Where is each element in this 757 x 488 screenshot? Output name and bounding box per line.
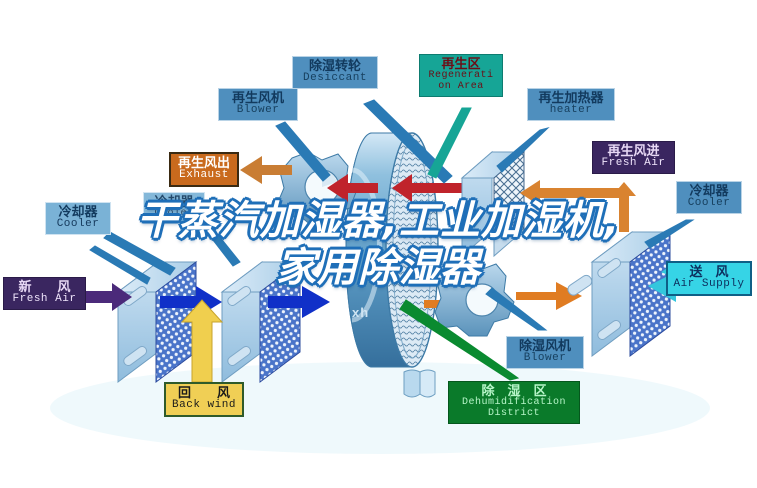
label-dehumidification-blower[interactable]: 除湿风机 Blower — [506, 336, 584, 369]
label-back-wind-en: Back wind — [170, 400, 238, 412]
label-fresh-air-inlet-en: Fresh Air — [8, 294, 81, 306]
regeneration-heater-unit — [462, 152, 524, 256]
label-regeneration-blower[interactable]: 再生风机 Blower — [218, 88, 298, 121]
supply-cooler-unit — [592, 232, 670, 356]
label-dehumidification-blower-cn: 除湿风机 — [511, 339, 579, 353]
label-regeneration-area-cn: 再生区 — [424, 57, 498, 71]
label-fresh-air-inlet[interactable]: 新 风 Fresh Air — [3, 277, 86, 310]
label-regeneration-heater[interactable]: 再生加热器 heater — [527, 88, 615, 121]
label-regeneration-exhaust[interactable]: 再生风出 Exhaust — [169, 152, 239, 187]
label-regeneration-area-en-line2: on Area — [424, 82, 498, 93]
label-fresh-air-inlet-cn: 新 风 — [8, 280, 81, 294]
label-dehumidification-blower-en: Blower — [511, 353, 579, 365]
label-regeneration-area[interactable]: 再生区 Regenerati on Area — [419, 54, 503, 97]
label-air-supply-en: Air Supply — [672, 279, 746, 291]
label-back-wind-cn: 回 风 — [170, 386, 238, 400]
label-regeneration-blower-en: Blower — [223, 105, 293, 117]
label-air-supply[interactable]: 送 风 Air Supply — [666, 261, 752, 296]
label-cooler-left-2[interactable]: 冷却器 Cooler — [143, 192, 205, 224]
diagram-graphics — [0, 0, 757, 488]
label-desiccant-wheel-en: Desiccant — [297, 73, 373, 85]
label-cooler-left-1[interactable]: 冷却器 Cooler — [45, 202, 111, 235]
label-cooler-left-2-en: Cooler — [148, 209, 200, 220]
label-regeneration-fresh-air-en: Fresh Air — [597, 158, 670, 170]
label-regeneration-exhaust-cn: 再生风出 — [175, 156, 233, 170]
label-regeneration-fresh-air-cn: 再生风进 — [597, 144, 670, 158]
label-dehumidification-district-en-line2: District — [453, 409, 575, 420]
label-cooler-left-2-cn: 冷却器 — [148, 195, 200, 209]
label-regeneration-heater-cn: 再生加热器 — [532, 91, 610, 105]
label-desiccant-wheel-cn: 除湿转轮 — [297, 59, 373, 73]
wheel-drain-piece — [404, 370, 435, 397]
label-dehumidification-district-cn: 除 湿 区 — [453, 384, 575, 398]
label-desiccant-wheel[interactable]: 除湿转轮 Desiccant — [292, 56, 378, 89]
label-cooler-right-en: Cooler — [681, 198, 737, 210]
label-dehumidification-district[interactable]: 除 湿 区 Dehumidification District — [448, 381, 580, 424]
label-cooler-left-1-en: Cooler — [50, 219, 106, 231]
wheel-watermark-text: xh — [352, 305, 369, 320]
label-regeneration-exhaust-en: Exhaust — [175, 170, 233, 182]
desiccant-rotor-wheel — [346, 133, 438, 367]
label-regeneration-heater-en: heater — [532, 105, 610, 117]
label-back-wind[interactable]: 回 风 Back wind — [164, 382, 244, 417]
label-regeneration-fresh-air[interactable]: 再生风进 Fresh Air — [592, 141, 675, 174]
label-air-supply-cn: 送 风 — [672, 265, 746, 279]
dehumidifier-schematic-diagram: 除湿转轮 Desiccant 再生风机 Blower 再生风出 Exhaust … — [0, 0, 757, 488]
arrow-regen-intake-horizontal — [520, 180, 624, 206]
label-regeneration-blower-cn: 再生风机 — [223, 91, 293, 105]
label-cooler-left-1-cn: 冷却器 — [50, 205, 106, 219]
label-cooler-right-cn: 冷却器 — [681, 184, 737, 198]
label-cooler-right[interactable]: 冷却器 Cooler — [676, 181, 742, 214]
